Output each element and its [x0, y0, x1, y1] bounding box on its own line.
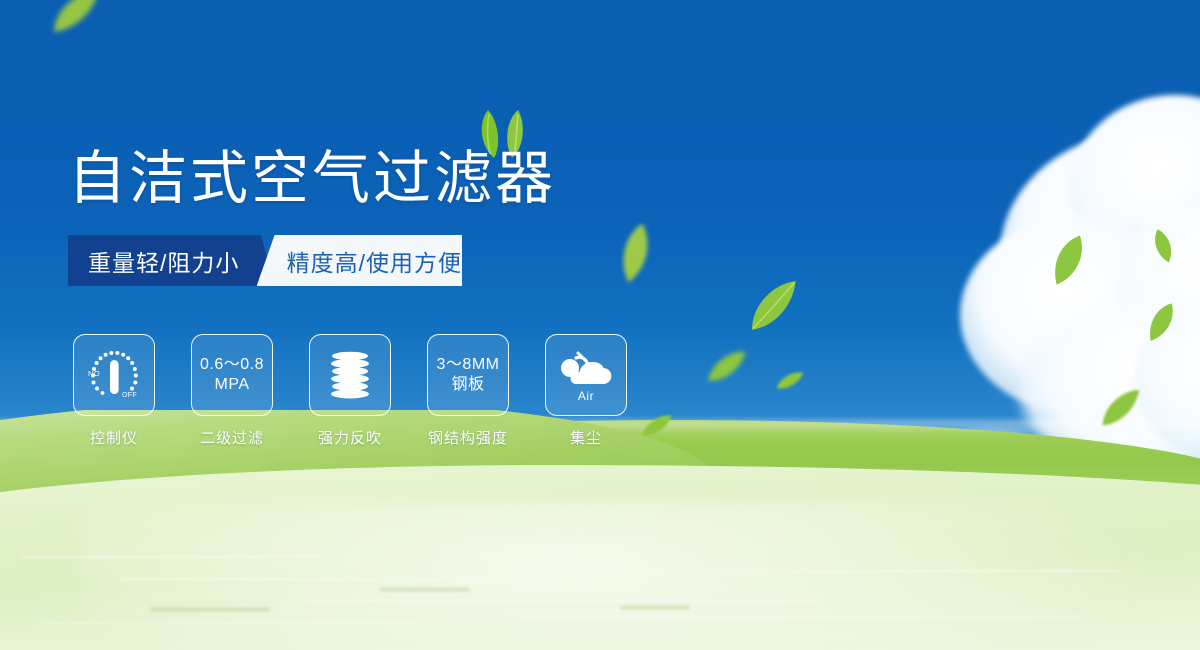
feature-label: 集尘: [570, 427, 602, 448]
gauge-on-label: NO: [88, 369, 100, 378]
feature-item-steel[interactable]: 3～8MM 钢板 钢结构强度: [422, 334, 514, 448]
feature-list: NO OFF 控制仪 0.6～0.8 MPA 二级过滤: [68, 334, 632, 448]
cloud-air-icon: [556, 349, 616, 389]
feature-value-line1: 0.6～0.8: [200, 355, 264, 375]
subtitle-left-text: 重量轻/阻力小: [68, 244, 239, 278]
subtitle-left-panel: 重量轻/阻力小: [68, 235, 257, 286]
subtitle-right-panel: 精度高/使用方便: [257, 235, 462, 286]
feature-label: 强力反吹: [318, 427, 382, 448]
feature-item-filtration[interactable]: 0.6～0.8 MPA 二级过滤: [186, 334, 278, 448]
feature-label: 钢结构强度: [428, 427, 508, 448]
banner-content: 自洁式空气过滤器 重量轻/阻力小 精度高/使用方便: [0, 0, 1200, 650]
feature-icon-box: [309, 334, 391, 416]
feature-icon-box: 0.6～0.8 MPA: [191, 334, 273, 416]
feature-icon-box: NO OFF: [73, 334, 155, 416]
page-title: 自洁式空气过滤器: [68, 146, 556, 212]
feature-item-controller[interactable]: NO OFF 控制仪: [68, 334, 160, 448]
feature-item-backblow[interactable]: 强力反吹: [304, 334, 396, 448]
feature-label: 二级过滤: [200, 427, 264, 448]
filter-stack-icon: [321, 346, 379, 404]
feature-icon-box: Air: [545, 334, 627, 416]
gauge-off-label: OFF: [122, 392, 137, 399]
subtitle-right-text: 精度高/使用方便: [257, 244, 462, 278]
feature-label: 控制仪: [90, 427, 138, 448]
feature-item-dust[interactable]: Air 集尘: [540, 334, 632, 448]
hero-banner: 自洁式空气过滤器 重量轻/阻力小 精度高/使用方便: [0, 0, 1200, 650]
feature-value-line1: Air: [578, 390, 594, 402]
feature-value-line2: MPA: [215, 375, 250, 395]
gauge-icon: NO OFF: [83, 344, 145, 406]
feature-icon-box: 3～8MM 钢板: [427, 334, 509, 416]
feature-value-line1: 3～8MM: [437, 355, 500, 375]
feature-value-line2: 钢板: [451, 375, 484, 395]
subtitle-bar: 重量轻/阻力小 精度高/使用方便: [68, 235, 462, 286]
